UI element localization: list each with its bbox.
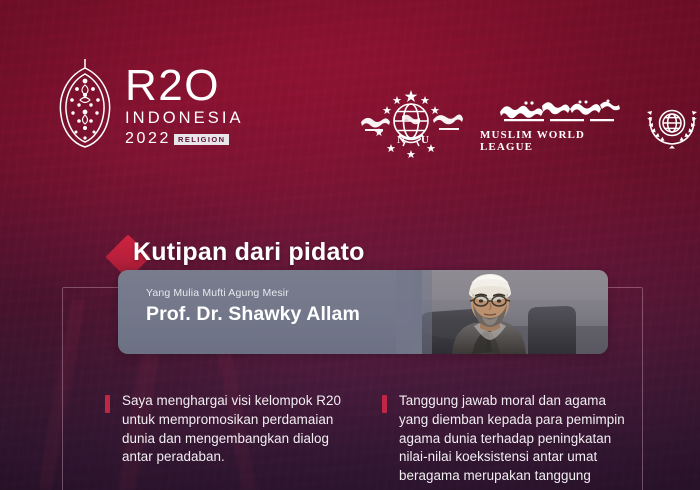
r20-title: R2O	[125, 66, 220, 106]
nahdlatul-ulama-globe-icon: N U	[355, 86, 467, 164]
logo-row: R2O INDONESIA 2022 RELIGION	[0, 0, 700, 190]
quote-accent-bar	[105, 395, 110, 413]
batik-ornament-icon	[52, 55, 118, 150]
speaker-name: Prof. Dr. Shawky Allam	[146, 303, 360, 326]
mwl-wordmark: MUSLIM WORLD LEAGUE	[480, 95, 638, 153]
mwl-arabic-calligraphy-icon	[496, 95, 622, 125]
speaker-role: Yang Mulia Mufti Agung Mesir	[146, 287, 360, 299]
speaker-info: Yang Mulia Mufti Agung Mesir Prof. Dr. S…	[146, 287, 360, 326]
mwl-english-name: MUSLIM WORLD LEAGUE	[480, 129, 638, 153]
muslim-world-league-logo: MUSLIM WORLD LEAGUE	[480, 95, 700, 153]
r20-religion-badge: RELIGION	[174, 134, 229, 145]
nu-letter-n: N	[397, 134, 405, 146]
page-title: Kutipan dari pidato	[133, 238, 365, 267]
quote-text: Tanggung jawab moral dan agama yang diem…	[399, 392, 632, 486]
r20-country: INDONESIA	[125, 108, 244, 129]
speaker-portrait	[396, 270, 608, 354]
r20-logo: R2O INDONESIA 2022 RELIGION	[52, 55, 244, 150]
r20-wordmark: R2O INDONESIA 2022 RELIGION	[125, 57, 244, 148]
slide-canvas: R2O INDONESIA 2022 RELIGION	[0, 0, 700, 490]
r20-year: 2022	[125, 130, 171, 148]
muslim-world-league-globe-wreath-icon	[644, 99, 700, 149]
quote-accent-bar	[382, 395, 387, 413]
speaker-card: Yang Mulia Mufti Agung Mesir Prof. Dr. S…	[118, 270, 608, 354]
quote-text: Saya menghargai visi kelompok R20 untuk …	[122, 392, 345, 467]
quote-right: Tanggung jawab moral dan agama yang diem…	[382, 392, 632, 486]
r20-year-row: 2022 RELIGION	[125, 130, 229, 148]
quote-left: Saya menghargai visi kelompok R20 untuk …	[105, 392, 345, 467]
nu-letter-u: U	[421, 134, 429, 146]
